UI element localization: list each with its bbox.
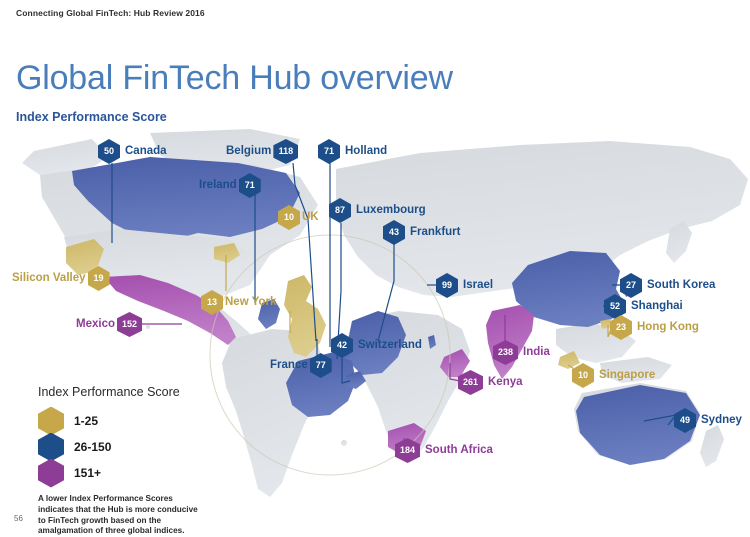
marker-label-hong-kong: Hong Kong — [632, 322, 704, 334]
marker-label-south-africa: South Africa — [420, 445, 498, 457]
marker-label-shanghai: Shanghai — [626, 301, 688, 313]
legend-title: Index Performance Score — [38, 385, 253, 399]
marker-label-holland: Holland — [340, 146, 392, 158]
marker-ireland[interactable]: 71 Ireland — [197, 173, 261, 198]
marker-mexico[interactable]: 152 Mexico — [74, 312, 142, 337]
marker-label-luxembourg: Luxembourg — [351, 205, 431, 217]
marker-label-india: India — [518, 347, 555, 359]
marker-hong-kong[interactable]: 23 Hong Kong — [610, 315, 704, 340]
marker-label-israel: Israel — [458, 280, 498, 292]
marker-score-mexico: 152 — [117, 312, 142, 337]
legend-row-1-25: 1-25 — [38, 408, 253, 434]
section-label: Index Performance Score — [16, 110, 167, 124]
marker-label-ireland: Ireland — [197, 180, 239, 192]
legend-label-26-150: 26-150 — [64, 440, 111, 454]
legend-label-1-25: 1-25 — [64, 414, 98, 428]
marker-label-new-york: New York — [223, 297, 278, 309]
marker-score-new-york: 13 — [201, 290, 223, 315]
marker-label-canada: Canada — [120, 146, 172, 158]
marker-silicon-valley[interactable]: 19 Silicon Valley — [10, 266, 110, 291]
marker-sydney[interactable]: 49 Sydney — [674, 408, 747, 433]
marker-singapore[interactable]: 10 Singapore — [572, 363, 660, 388]
marker-score-israel: 99 — [436, 273, 458, 298]
marker-frankfurt[interactable]: 43 Frankfurt — [383, 220, 465, 245]
legend-swatch-purple — [38, 459, 64, 488]
marker-score-kenya: 261 — [458, 370, 483, 395]
marker-belgium[interactable]: 118 Belgium — [224, 139, 298, 164]
marker-score-singapore: 10 — [572, 363, 594, 388]
marker-india[interactable]: 238 India — [493, 340, 555, 365]
marker-score-luxembourg: 87 — [329, 198, 351, 223]
marker-holland[interactable]: 71 Holland — [318, 139, 392, 164]
marker-score-canada: 50 — [98, 139, 120, 164]
marker-score-holland: 71 — [318, 139, 340, 164]
marker-label-south-korea: South Korea — [642, 280, 720, 292]
marker-france[interactable]: 77 France — [268, 353, 332, 378]
marker-score-france: 77 — [310, 353, 332, 378]
legend-row-26-150: 26-150 — [38, 434, 253, 460]
marker-score-south-africa: 184 — [395, 438, 420, 463]
marker-score-india: 238 — [493, 340, 518, 365]
marker-label-uk: UK — [300, 212, 321, 224]
report-kicker: Connecting Global FinTech: Hub Review 20… — [16, 8, 205, 18]
marker-score-silicon-valley: 19 — [88, 266, 110, 291]
marker-israel[interactable]: 99 Israel — [436, 273, 498, 298]
marker-switzerland[interactable]: 42 Switzerland — [331, 333, 427, 358]
marker-label-mexico: Mexico — [74, 319, 117, 331]
legend-label-151plus: 151+ — [64, 466, 101, 480]
marker-new-york[interactable]: 13 New York — [201, 290, 278, 315]
marker-label-switzerland: Switzerland — [353, 340, 427, 352]
marker-south-africa[interactable]: 184 South Africa — [395, 438, 498, 463]
marker-score-ireland: 71 — [239, 173, 261, 198]
legend-note: A lower Index Performance Scores indicat… — [38, 494, 198, 537]
marker-score-uk: 10 — [278, 205, 300, 230]
legend-swatch-blue — [38, 433, 64, 462]
map-legend: Index Performance Score 1-25 26-150 151+… — [38, 385, 253, 537]
marker-uk[interactable]: 10 UK — [278, 205, 321, 230]
marker-label-france: France — [268, 360, 310, 372]
marker-canada[interactable]: 50 Canada — [98, 139, 172, 164]
marker-label-kenya: Kenya — [483, 377, 528, 389]
marker-label-sydney: Sydney — [696, 415, 747, 427]
marker-score-frankfurt: 43 — [383, 220, 405, 245]
marker-score-hong-kong: 23 — [610, 315, 632, 340]
marker-label-silicon-valley: Silicon Valley — [10, 273, 88, 285]
marker-label-belgium: Belgium — [224, 146, 273, 158]
legend-swatch-gold — [38, 407, 64, 436]
marker-score-switzerland: 42 — [331, 333, 353, 358]
marker-label-singapore: Singapore — [594, 370, 660, 382]
page-title: Global FinTech Hub overview — [16, 61, 453, 95]
marker-kenya[interactable]: 261 Kenya — [458, 370, 528, 395]
legend-row-151plus: 151+ — [38, 460, 253, 486]
marker-score-belgium: 118 — [273, 139, 298, 164]
marker-label-frankfurt: Frankfurt — [405, 227, 465, 239]
marker-score-sydney: 49 — [674, 408, 696, 433]
